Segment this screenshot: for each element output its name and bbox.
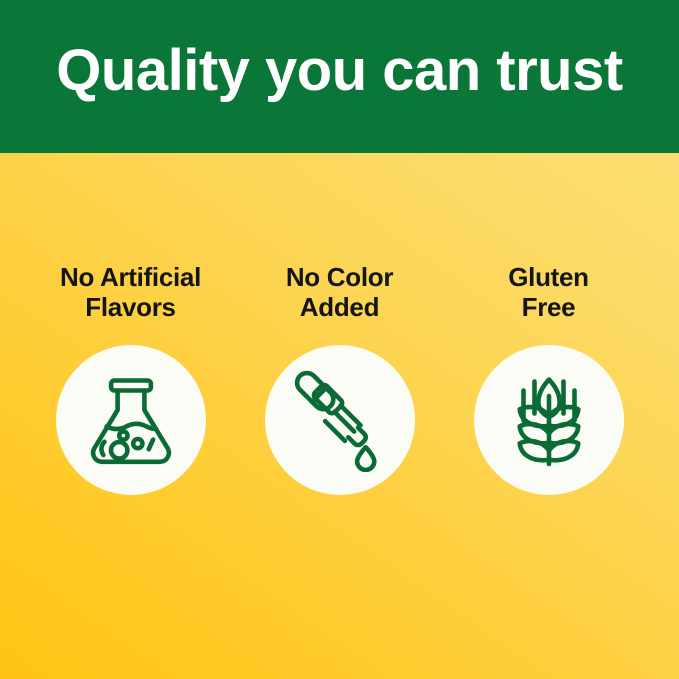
flask-icon	[79, 368, 183, 472]
badge-icon-circle	[474, 345, 624, 495]
badge-icon-circle	[56, 345, 206, 495]
badge-icon-circle	[265, 345, 415, 495]
badge-label: Gluten Free	[508, 262, 589, 323]
badge-no-artificial-flavors: No Artificial Flavors	[26, 262, 235, 495]
dropper-icon	[288, 368, 392, 472]
quality-claims-infographic: Quality you can trust No Artificial Flav…	[0, 0, 679, 679]
badge-row: No Artificial Flavors	[0, 262, 679, 495]
badge-label: No Color Added	[286, 262, 393, 323]
wheat-icon	[497, 368, 601, 472]
badge-label: No Artificial Flavors	[60, 262, 201, 323]
badge-gluten-free: Gluten Free	[444, 262, 653, 495]
header-banner: Quality you can trust	[0, 0, 679, 153]
page-title: Quality you can trust	[0, 42, 679, 100]
badge-no-color-added: No Color Added	[235, 262, 444, 495]
